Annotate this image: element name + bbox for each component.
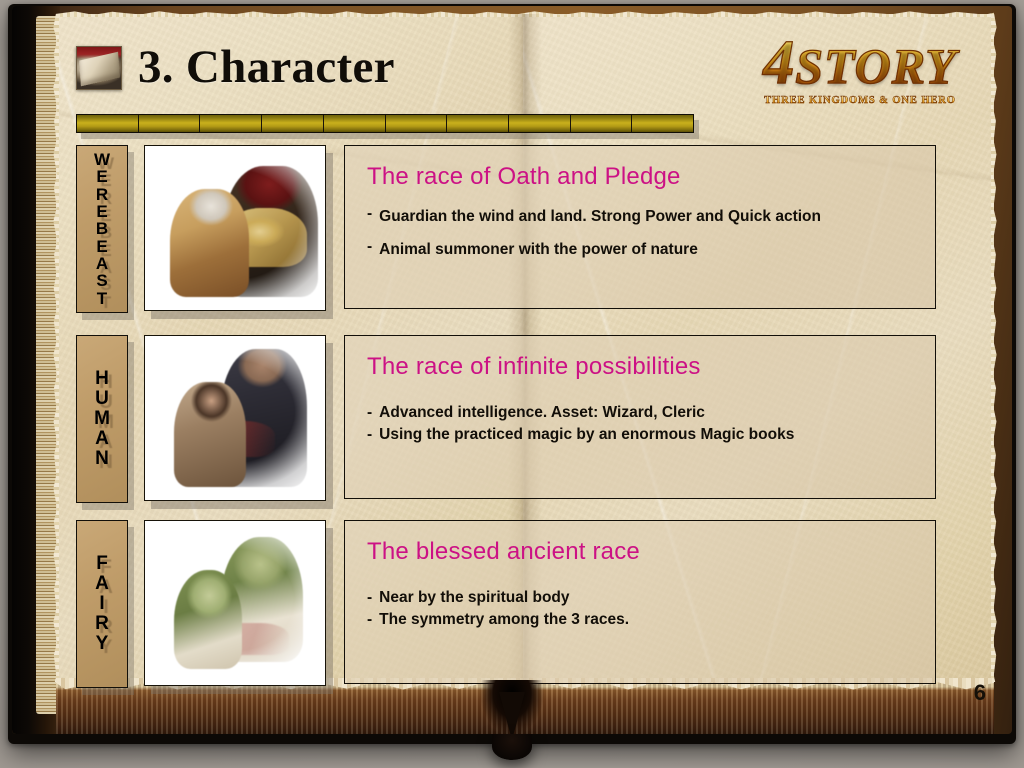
- race-bullet-list: - Advanced intelligence. Asset: Wizard, …: [367, 404, 913, 445]
- page-number: 6: [974, 680, 986, 706]
- race-portrait-frame: [144, 145, 326, 311]
- race-heading: The race of Oath and Pledge: [367, 164, 913, 190]
- race-label-box: HUMAN: [76, 335, 128, 503]
- bullet-dash: -: [367, 404, 372, 423]
- race-label-letter: W: [94, 151, 110, 168]
- werebeast-pair-portrait: [145, 146, 325, 310]
- race-portrait-fairy: [144, 520, 330, 690]
- race-bullet-item: - Guardian the wind and land. Strong Pow…: [367, 208, 913, 227]
- race-label-letter: E: [96, 203, 107, 220]
- race-portrait-werebeast: [144, 145, 330, 315]
- race-bullet-item: - Using the practiced magic by an enormo…: [367, 426, 913, 445]
- race-label-letter: B: [96, 220, 108, 237]
- race-label-letter: R: [95, 614, 109, 634]
- bullet-text: Using the practiced magic by an enormous…: [379, 426, 794, 445]
- race-text-panel-fairy: The blessed ancient race - Near by the s…: [344, 520, 936, 690]
- book-binding-tab: [492, 734, 532, 760]
- race-bullet-list: - Near by the spiritual body - The symme…: [367, 589, 913, 630]
- race-label-werebeast: WEREBEAST: [76, 145, 132, 317]
- portrait-vignette: [145, 146, 325, 310]
- bullet-text: The symmetry among the 3 races.: [379, 611, 629, 630]
- race-label-letter: S: [96, 272, 107, 289]
- race-heading: The race of infinite possibilities: [367, 354, 913, 380]
- race-label-letter: H: [95, 369, 109, 389]
- race-label-text: FAIRY: [95, 554, 109, 655]
- race-label-letter: R: [96, 186, 108, 203]
- race-label-box: FAIRY: [76, 520, 128, 688]
- fairy-pair-portrait: [145, 521, 325, 685]
- race-text-panel: The race of Oath and Pledge - Guardian t…: [344, 145, 936, 309]
- human-pair-portrait: [145, 336, 325, 500]
- race-text-panel: The blessed ancient race - Near by the s…: [344, 520, 936, 684]
- presentation-slide: 3. Character 4STORY THREE KINGDOMS & ONE…: [0, 0, 1024, 768]
- race-text-panel: The race of infinite possibilities - Adv…: [344, 335, 936, 499]
- race-row: WEREBEAST The race of Oath and Pledge: [76, 145, 936, 317]
- bullet-dash: -: [367, 589, 372, 608]
- race-label-text: WEREBEAST: [94, 151, 110, 307]
- bullet-text: Advanced intelligence. Asset: Wizard, Cl…: [379, 404, 705, 423]
- bullet-dash: -: [367, 426, 372, 445]
- portrait-vignette: [145, 336, 325, 500]
- race-label-letter: T: [97, 290, 107, 307]
- race-label-human: HUMAN: [76, 335, 132, 507]
- race-label-letter: Y: [96, 634, 109, 654]
- race-label-fairy: FAIRY: [76, 520, 132, 692]
- race-label-text: HUMAN: [94, 369, 110, 470]
- portrait-vignette: [145, 521, 325, 685]
- race-label-letter: E: [96, 238, 107, 255]
- race-text-panel-human: The race of infinite possibilities - Adv…: [344, 335, 936, 505]
- race-label-letter: F: [96, 554, 108, 574]
- race-label-letter: A: [95, 574, 109, 594]
- race-portrait-frame: [144, 335, 326, 501]
- race-rows: WEREBEAST The race of Oath and Pledge: [0, 0, 1024, 768]
- race-label-box: WEREBEAST: [76, 145, 128, 313]
- bullet-text: Near by the spiritual body: [379, 589, 569, 608]
- race-label-letter: N: [95, 449, 109, 469]
- race-bullet-item: - Animal summoner with the power of natu…: [367, 241, 913, 260]
- race-label-letter: U: [95, 389, 109, 409]
- race-bullet-item: - The symmetry among the 3 races.: [367, 611, 913, 630]
- race-text-panel-werebeast: The race of Oath and Pledge - Guardian t…: [344, 145, 936, 315]
- race-row: HUMAN The race of infinite possibilities: [76, 335, 936, 507]
- race-label-letter: M: [94, 409, 110, 429]
- race-label-letter: A: [96, 255, 108, 272]
- race-label-letter: I: [99, 594, 104, 614]
- race-portrait-human: [144, 335, 330, 505]
- race-bullet-list: - Guardian the wind and land. Strong Pow…: [367, 208, 913, 260]
- race-row: FAIRY The blessed ancient race: [76, 520, 936, 692]
- bullet-dash: -: [367, 238, 372, 257]
- race-heading: The blessed ancient race: [367, 539, 913, 565]
- slide-content: 3. Character 4STORY THREE KINGDOMS & ONE…: [0, 0, 1024, 768]
- race-bullet-item: - Advanced intelligence. Asset: Wizard, …: [367, 404, 913, 423]
- bullet-text: Animal summoner with the power of nature: [379, 241, 698, 260]
- race-bullet-item: - Near by the spiritual body: [367, 589, 913, 608]
- race-portrait-frame: [144, 520, 326, 686]
- bullet-dash: -: [367, 611, 372, 630]
- race-label-letter: A: [95, 429, 109, 449]
- bullet-dash: -: [367, 205, 372, 224]
- bullet-text: Guardian the wind and land. Strong Power…: [379, 208, 821, 227]
- race-label-letter: E: [96, 168, 107, 185]
